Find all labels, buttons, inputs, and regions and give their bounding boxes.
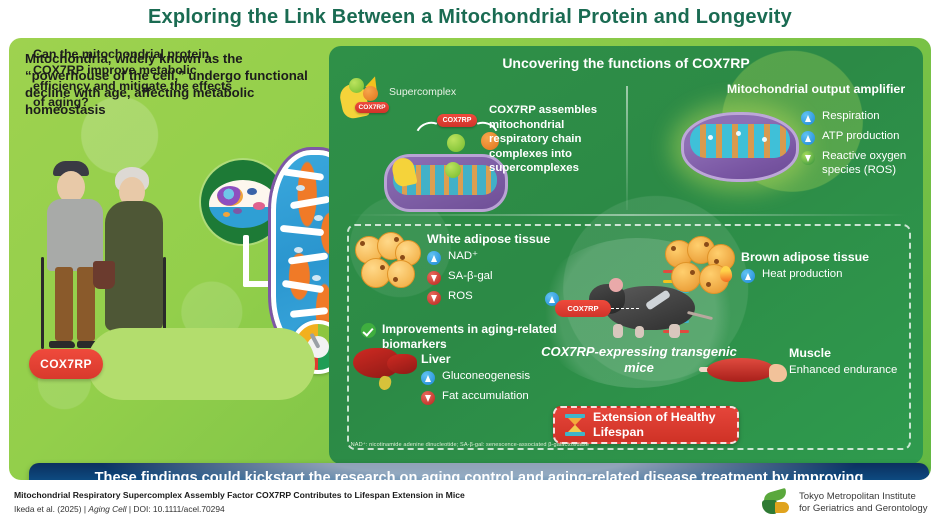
bullet-label: Respiration [822,110,880,124]
elderly-couple-illustration [35,156,195,351]
liver-illustration [353,346,419,392]
citation-separator: | [129,504,131,514]
gallbladder-shape [378,375,393,391]
white-adipose-title: White adipose tissue [427,232,550,246]
panel-title: Uncovering the functions of COX7RP [329,55,923,71]
bullet-label: Enhanced endurance [789,364,897,378]
bullet-sa-beta-gal: SA-β-gal [427,270,577,285]
muscle-list: Enhanced endurance [789,364,909,383]
cox7rp-tag-center: COX7RP [437,114,477,127]
mouse-ear-shape [609,278,623,292]
logo-leaf-icon [762,490,792,516]
connector-dashed-line [611,308,639,309]
matrix-dot-shape [294,247,303,253]
arrow-down-red-icon [427,291,441,305]
liver-list: Gluconeogenesis Fat accumulation [421,370,601,410]
page-title: Exploring the Link Between a Mitochondri… [0,6,940,29]
matrix-dot-shape [296,185,305,191]
flexed-bicep-icon [769,364,787,382]
crista-shape [290,196,331,210]
conclusion-text: These findings could kickstart the resea… [49,468,909,480]
matrix-dot-shape [312,275,321,281]
hourglass-cap-shape [565,432,585,436]
brown-fat-cell-shape [671,262,701,292]
cox7rp-pill: COX7RP [29,349,103,379]
supercomplex-label: Supercomplex [389,86,456,98]
conclusion-banner: These findings could kickstart the resea… [29,463,929,480]
abbreviation-footnote: NAD⁺: nicotinamide adenine dinucleotide;… [339,442,589,448]
bullet-label: Reactive oxygen species (ROS) [822,150,923,177]
institute-logo: Tokyo Metropolitan Institute for Geriatr… [762,490,928,516]
crista-shape [288,252,329,264]
handbag-shape [93,261,115,289]
organelle-shape [233,208,242,214]
nucleus-shape [217,186,243,206]
leaf-shape [775,502,789,513]
brown-adipose-list: Heat production [741,268,921,288]
complex-green-shape [349,78,364,93]
citation-separator: | [84,504,86,514]
bullet-atp-production: ATP production [801,130,923,145]
crista-shape [282,280,325,293]
citation-journal: Aging Cell [88,504,126,514]
white-adipose-illustration [355,232,421,294]
bullet-fat-accumulation: Fat accumulation [421,390,601,405]
infographic-root: Exploring the Link Between a Mitochondri… [0,0,940,529]
elderly-woman-figure [97,165,181,351]
arrow-down-red-icon [421,391,435,405]
amplifier-title: Mitochondrial output amplifier [709,82,923,96]
bullet-label: NAD⁺ [448,250,478,264]
liver-title: Liver [421,352,451,366]
liver-lobe-shape [387,354,417,374]
cox7rp-tag: COX7RP [355,102,389,113]
complex-orange-shape [363,86,378,101]
main-board: Mitochondria, widely known as the “power… [9,38,931,480]
organelle-shape [253,202,265,210]
institute-name-line1: Tokyo Metropolitan Institute [799,491,928,504]
matrix-dot-shape [314,215,323,221]
bullet-respiration: Respiration [801,110,923,125]
mouse-leg-shape [613,324,623,338]
healthy-lifespan-box: Extension of Healthy Lifespan [553,406,739,444]
footer: Mitochondrial Respiratory Supercomplex A… [0,482,940,529]
mitochondrion-amplifier-illustration [681,112,799,182]
complex-green-shape [447,134,465,152]
arrow-up-blue-icon [421,371,435,385]
arrow-up-blue-icon [801,111,815,125]
citation-details: Ikeda et al. (2025) | Aging Cell | DOI: … [14,504,225,514]
check-circle-icon [361,323,376,338]
muscle-title: Muscle [789,346,831,360]
cane-shape [41,257,44,349]
arrow-up-blue-icon [427,251,441,265]
citation-title: Mitochondrial Respiratory Supercomplex A… [14,490,465,500]
hourglass-cap-shape [565,414,585,418]
hourglass-sand-shape [568,418,582,432]
bullet-enhanced-endurance: Enhanced endurance [789,364,909,378]
arrow-down-green-icon [801,151,815,165]
bullet-label: ATP production [822,130,899,144]
bullet-label: Fat accumulation [442,390,529,404]
organelle-shape [247,188,257,195]
bullet-reactive-oxygen-species: Reactive oxygen species (ROS) [801,150,923,177]
research-question-bubble [87,328,315,400]
arrow-up-blue-icon [741,269,755,283]
bullet-label: Gluconeogenesis [442,370,530,384]
cell-body-shape [209,180,277,228]
functions-panel: Uncovering the functions of COX7RP COX7R… [329,46,923,464]
bullet-heat-production: Heat production [741,268,921,283]
leg-left-shape [55,267,73,341]
crista-shape [282,168,325,181]
crista-shape [280,225,324,237]
panel-divider-vertical [626,86,628,210]
mouse-leg-shape [669,324,680,338]
crista-shape [290,307,329,318]
supercomplex-illustration: COX7RP [337,74,389,126]
brown-adipose-title: Brown adipose tissue [741,250,869,264]
mouse-leg-shape [635,326,644,338]
institute-name-line2: for Geriatrics and Gerontology [799,503,928,516]
matrix-dot-shape [708,135,713,140]
matrix-dot-shape [762,137,767,142]
crista-band-shape [690,124,790,158]
function-description: COX7RP assembles mitochondrial respirato… [489,103,624,176]
muscle-belly-shape [707,358,775,382]
bullet-label: ROS [448,290,473,304]
hourglass-icon [565,413,585,437]
bullet-nad: NAD⁺ [427,250,577,265]
panel-divider-horizontal [347,214,907,216]
results-dashed-box: White adipose tissue NAD⁺ SA-β-gal ROS [347,224,911,450]
arrow-down-red-icon [427,271,441,285]
arrow-up-blue-icon [801,131,815,145]
cox7rp-mouse-tag: COX7RP [555,300,611,317]
citation-doi: DOI: 10.1111/acel.70294 [133,504,224,514]
citation-authors: Ikeda et al. (2025) [14,504,82,514]
shoe-left-shape [49,341,75,348]
amplifier-bullet-list: Respiration ATP production Reactive oxyg… [801,110,923,182]
institute-name: Tokyo Metropolitan Institute for Geriatr… [799,491,928,516]
fat-cell-shape [387,260,415,288]
bullet-label: SA-β-gal [448,270,493,284]
complex-green-shape [445,162,461,178]
bullet-label: Heat production [762,268,842,282]
matrix-dot-shape [736,131,741,136]
flow-arrow-stem [243,235,249,287]
organelle-shape [223,212,230,217]
research-question-text: Can the mitochondrial protein COX7RP imp… [33,46,233,110]
healthy-lifespan-label: Extension of Healthy Lifespan [593,410,737,440]
